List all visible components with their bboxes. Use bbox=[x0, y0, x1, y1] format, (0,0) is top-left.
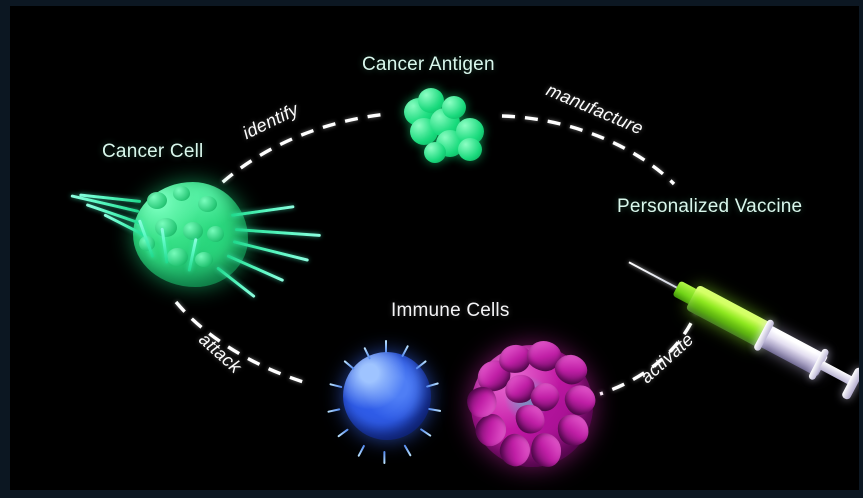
cell-surface-bump bbox=[173, 186, 190, 201]
antigen-lobe bbox=[442, 96, 466, 119]
t-cell-spike bbox=[337, 428, 349, 438]
cancer-cell-illustration bbox=[55, 174, 330, 309]
cancer-antigen-illustration bbox=[402, 88, 494, 170]
cell-surface-bump bbox=[207, 226, 224, 242]
t-cell-spike bbox=[420, 428, 432, 437]
t-cell-illustration bbox=[335, 344, 439, 448]
cell-surface-bump bbox=[195, 252, 213, 267]
syringe-needle bbox=[628, 261, 679, 289]
figure-frame: Cancer Cell Cancer Antigen Personalized … bbox=[0, 0, 863, 498]
cell-surface-bump bbox=[155, 218, 177, 237]
cell-surface-bump bbox=[147, 192, 167, 209]
t-cell-spike bbox=[343, 360, 354, 370]
t-cell-spike bbox=[383, 451, 385, 464]
antigen-lobe bbox=[424, 142, 446, 163]
arrow-manufacture bbox=[502, 116, 674, 184]
cell-surface-bump bbox=[183, 222, 203, 240]
cell-surface-bump bbox=[167, 248, 188, 266]
cell-surface-bump bbox=[198, 196, 217, 212]
diagram-canvas: Cancer Cell Cancer Antigen Personalized … bbox=[10, 6, 859, 490]
dendritic-cell-illustration bbox=[465, 339, 599, 473]
filopodium bbox=[216, 266, 256, 298]
antigen-lobe bbox=[458, 138, 482, 161]
